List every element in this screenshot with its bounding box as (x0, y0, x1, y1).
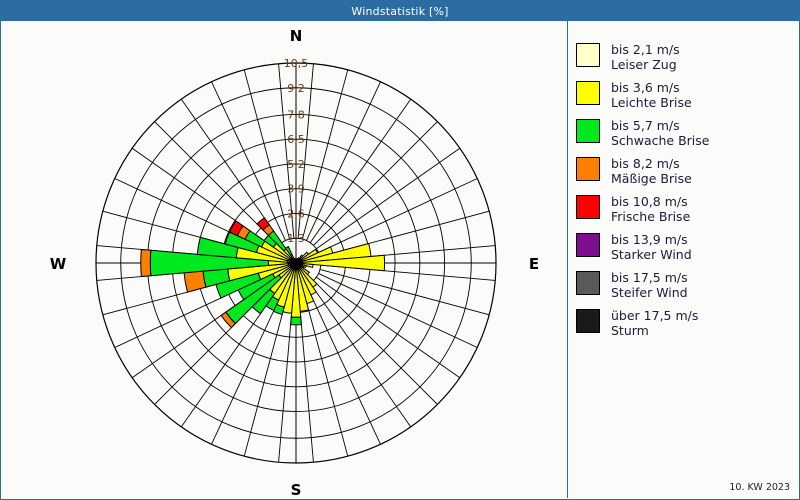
legend-color-swatch (576, 271, 600, 295)
legend-beaufort-name: Leiser Zug (611, 57, 680, 72)
wind-speed-legend: bis 2,1 m/sLeiser Zugbis 3,6 m/sLeichte … (576, 41, 791, 345)
legend-item: bis 2,1 m/sLeiser Zug (576, 41, 791, 72)
compass-label-east: E (529, 255, 539, 273)
legend-speed-range: bis 2,1 m/s (611, 42, 680, 57)
legend-speed-range: bis 3,6 m/s (611, 80, 680, 95)
radial-tick-label: 3,9 (287, 183, 305, 196)
legend-speed-range: bis 17,5 m/s (611, 270, 688, 285)
grid-spoke (314, 122, 438, 246)
legend-color-swatch (576, 233, 600, 257)
wind-rose-chart: 1,32,63,95,26,57,89,210,5 N E S W (1, 21, 561, 498)
radial-tick-label: 2,6 (287, 208, 305, 221)
legend-beaufort-name: Sturm (611, 323, 698, 338)
legend-beaufort-name: Leichte Brise (611, 95, 692, 110)
grid-spoke (318, 178, 477, 252)
legend-item: bis 17,5 m/sSteifer Wind (576, 269, 791, 300)
wind-rose-petals (141, 218, 385, 328)
wind-rose-svg: 1,32,63,95,26,57,89,210,5 N E S W (1, 21, 561, 498)
legend-color-swatch (576, 119, 600, 143)
grid-spoke (310, 99, 411, 243)
legend-label: über 17,5 m/sSturm (611, 307, 698, 338)
grid-spoke (302, 70, 347, 239)
compass-label-west: W (50, 255, 67, 273)
legend-item: bis 8,2 m/sMäßige Brise (576, 155, 791, 186)
legend-label: bis 17,5 m/sSteifer Wind (611, 269, 688, 300)
panel-divider (567, 21, 568, 498)
radial-tick-label: 7,8 (287, 108, 305, 121)
legend-item: bis 5,7 m/sSchwache Brise (576, 117, 791, 148)
footer-period: 10. KW 2023 (729, 482, 790, 493)
window-titlebar: Windstatistik [%] (1, 1, 799, 21)
legend-label: bis 10,8 m/sFrische Brise (611, 193, 690, 224)
legend-label: bis 3,6 m/sLeichte Brise (611, 79, 692, 110)
window-content: 1,32,63,95,26,57,89,210,5 N E S W bis 2,… (1, 21, 799, 498)
legend-label: bis 8,2 m/sMäßige Brise (611, 155, 692, 186)
wind-rose-segment (295, 260, 296, 261)
legend-color-swatch (576, 195, 600, 219)
grid-spoke (306, 285, 380, 444)
grid-spoke (320, 269, 489, 314)
legend-speed-range: über 17,5 m/s (611, 308, 698, 323)
compass-label-north: N (290, 27, 303, 45)
wind-rose-segment (291, 317, 302, 325)
legend-item: über 17,5 m/sSturm (576, 307, 791, 338)
grid-spoke (302, 287, 347, 456)
legend-label: bis 13,9 m/sStarker Wind (611, 231, 692, 262)
grid-spoke (244, 70, 289, 239)
legend-label: bis 5,7 m/sSchwache Brise (611, 117, 709, 148)
grid-spoke (310, 283, 411, 427)
window-title: Windstatistik [%] (351, 5, 448, 18)
legend-beaufort-name: Starker Wind (611, 247, 692, 262)
legend-beaufort-name: Steifer Wind (611, 285, 688, 300)
compass-label-south: S (291, 481, 302, 498)
wind-rose-segment (184, 271, 206, 292)
radial-tick-label: 10,5 (284, 57, 309, 70)
legend-speed-range: bis 5,7 m/s (611, 118, 680, 133)
legend-speed-range: bis 13,9 m/s (611, 232, 688, 247)
radial-tick-label: 5,2 (287, 158, 305, 171)
legend-beaufort-name: Mäßige Brise (611, 171, 692, 186)
radial-tick-label: 1,3 (287, 232, 305, 245)
legend-beaufort-name: Frische Brise (611, 209, 690, 224)
grid-spoke (306, 82, 380, 241)
legend-color-swatch (576, 81, 600, 105)
legend-item: bis 3,6 m/sLeichte Brise (576, 79, 791, 110)
legend-item: bis 10,8 m/sFrische Brise (576, 193, 791, 224)
legend-color-swatch (576, 309, 600, 333)
legend-color-swatch (576, 43, 600, 67)
wind-statistics-window: Windstatistik [%] 1,32,63,95,26,57,89,21… (0, 0, 800, 500)
grid-spoke (318, 273, 477, 347)
radial-tick-label: 9,2 (287, 82, 305, 95)
legend-item: bis 13,9 m/sStarker Wind (576, 231, 791, 262)
legend-label: bis 2,1 m/sLeiser Zug (611, 41, 680, 72)
legend-beaufort-name: Schwache Brise (611, 133, 709, 148)
grid-spoke (314, 281, 438, 405)
radial-tick-label: 6,5 (287, 133, 305, 146)
grid-spoke (316, 148, 460, 249)
legend-speed-range: bis 10,8 m/s (611, 194, 688, 209)
grid-spoke (316, 277, 460, 378)
legend-speed-range: bis 8,2 m/s (611, 156, 680, 171)
wind-rose-segment (141, 249, 151, 276)
grid-spoke (211, 82, 285, 241)
legend-color-swatch (576, 157, 600, 181)
